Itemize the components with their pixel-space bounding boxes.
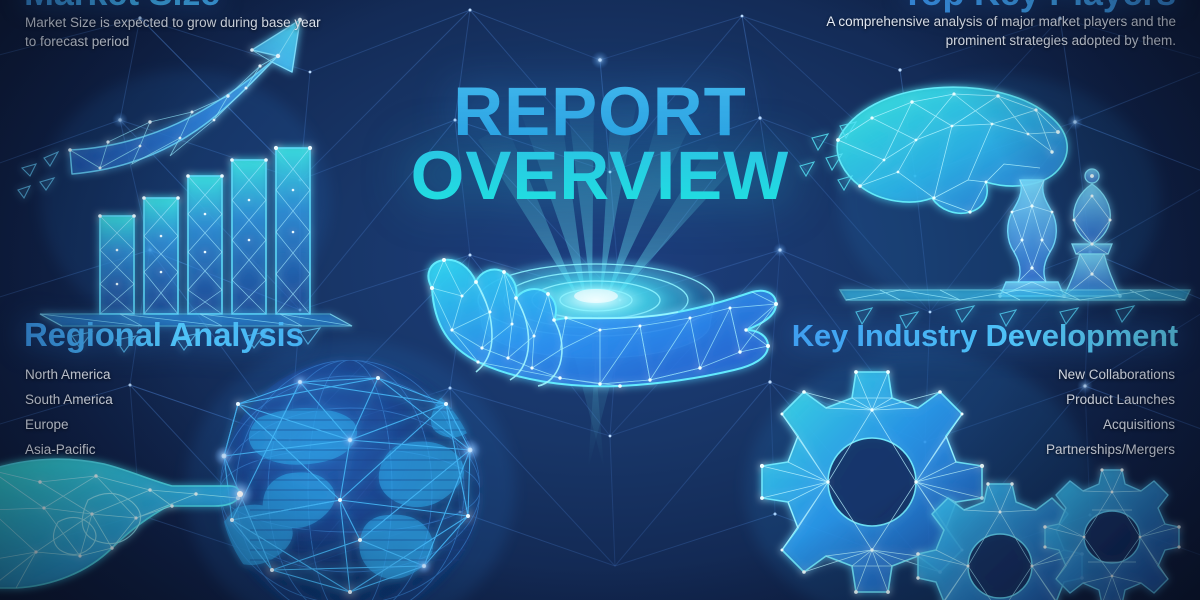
page-title-line-2: OVERVIEW: [0, 144, 1200, 208]
list-item: South America: [25, 387, 113, 412]
list-item: Partnerships/Mergers: [1046, 437, 1175, 462]
list-item: North America: [25, 362, 113, 387]
list-item: Europe: [25, 412, 113, 437]
list-item: New Collaborations: [1046, 362, 1175, 387]
market-size-subtitle: Market Size is expected to grow during b…: [25, 13, 325, 51]
market-size-title: Market Size: [24, 0, 220, 14]
top-key-players-subtitle: A comprehensive analysis of major market…: [804, 12, 1176, 50]
page-title-line-1: REPORT: [0, 80, 1200, 144]
list-item: Acquisitions: [1046, 412, 1175, 437]
list-item: Asia-Pacific: [25, 437, 113, 462]
list-item: Product Launches: [1046, 387, 1175, 412]
regional-analysis-title: Regional Analysis: [24, 316, 304, 354]
key-industry-development-title: Key Industry Development: [792, 318, 1178, 354]
page-title: REPORT OVERVIEW: [0, 80, 1200, 208]
key-industry-development-list: New Collaborations Product Launches Acqu…: [1046, 362, 1175, 462]
regional-analysis-list: North America South America Europe Asia-…: [25, 362, 113, 462]
infographic-canvas: Market Size Market Size is expected to g…: [0, 0, 1200, 600]
